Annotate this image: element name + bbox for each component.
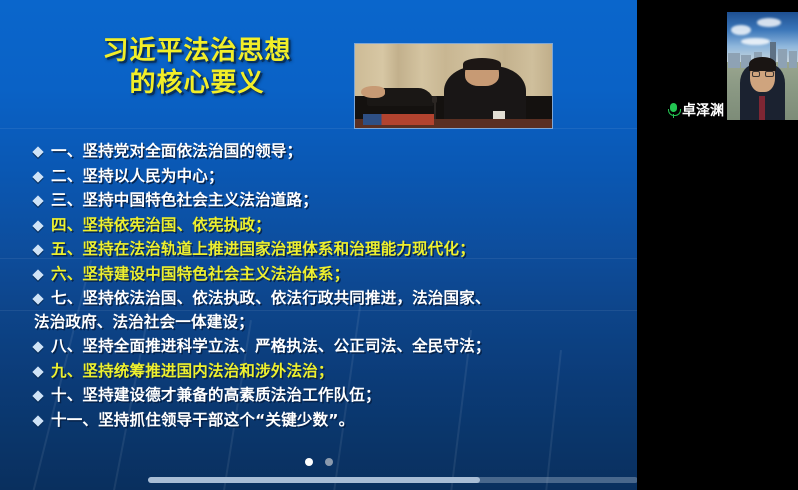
pagination-dots[interactable] bbox=[0, 458, 637, 466]
diamond-bullet-icon bbox=[32, 269, 43, 280]
list-item-label: 九、坚持统筹推进国内法治和涉外法治； bbox=[51, 360, 334, 384]
webcam-building bbox=[778, 49, 787, 68]
list-item-label: 一、坚持党对全面依法治国的领导； bbox=[51, 140, 302, 164]
presentation-viewer: 习近平法治思想 的核心要义 一、坚持党对全面依法治国的领导； bbox=[0, 0, 798, 490]
slide-title: 习近平法治思想 的核心要义 bbox=[52, 36, 342, 99]
list-item: 六、坚持建设中国特色社会主义法治体系； bbox=[34, 263, 624, 287]
pagination-dot-inactive[interactable] bbox=[325, 458, 333, 466]
list-item-label: 十、坚持建设德才兼备的高素质法治工作队伍； bbox=[51, 384, 381, 408]
photo-person-hair bbox=[463, 58, 500, 70]
list-item: 十、坚持建设德才兼备的高素质法治工作队伍； bbox=[34, 384, 624, 408]
photo-microphone-stem bbox=[434, 100, 436, 118]
progress-scrollbar[interactable] bbox=[148, 477, 637, 483]
list-item-label: 二、坚持以人民为中心； bbox=[51, 165, 224, 189]
list-item: 七、坚持依法治国、依法执政、依法行政共同推进，法治国家、 法治政府、法治社会一体… bbox=[34, 287, 624, 334]
list-item: 九、坚持统筹推进国内法治和涉外法治； bbox=[34, 360, 624, 384]
progress-scrollbar-thumb[interactable] bbox=[148, 477, 480, 483]
list-item: 三、坚持中国特色社会主义法治道路； bbox=[34, 189, 624, 213]
microphone-icon bbox=[668, 103, 679, 118]
pagination-dot-active[interactable] bbox=[305, 458, 313, 466]
webcam-building bbox=[789, 51, 798, 68]
webcam-name-badge: 卓泽渊 bbox=[668, 100, 724, 120]
photo-cup bbox=[493, 111, 505, 119]
webcam-person-hair bbox=[749, 57, 776, 71]
list-item-label: 七、坚持依法治国、依法执政、依法行政共同推进，法治国家、 bbox=[51, 289, 491, 307]
photo-microphone-head bbox=[432, 96, 437, 103]
list-item-label: 六、坚持建设中国特色社会主义法治体系； bbox=[51, 263, 349, 287]
list-item-label: 五、坚持在法治轨道上推进国家治理体系和治理能力现代化； bbox=[51, 238, 475, 262]
diamond-bullet-icon bbox=[32, 220, 43, 231]
diamond-bullet-icon bbox=[32, 146, 43, 157]
slide-canvas: 习近平法治思想 的核心要义 一、坚持党对全面依法治国的领导； bbox=[0, 0, 637, 490]
list-item: 八、坚持全面推进科学立法、严格执法、公正司法、全民守法； bbox=[34, 335, 624, 359]
list-item-label-group: 七、坚持依法治国、依法执政、依法行政共同推进，法治国家、 法治政府、法治社会一体… bbox=[51, 287, 491, 334]
diamond-bullet-icon bbox=[32, 195, 43, 206]
diamond-bullet-icon bbox=[32, 342, 43, 353]
diamond-bullet-icon bbox=[32, 415, 43, 426]
webcam-cloud bbox=[757, 18, 781, 27]
list-item: 五、坚持在法治轨道上推进国家治理体系和治理能力现代化； bbox=[34, 238, 624, 262]
webcam-video-tile[interactable] bbox=[727, 12, 798, 120]
webcam-building bbox=[728, 53, 739, 68]
diamond-bullet-icon bbox=[32, 391, 43, 402]
diamond-bullet-icon bbox=[32, 245, 43, 256]
slide-title-line-2: 的核心要义 bbox=[52, 68, 342, 100]
list-item: 十一、坚持抓住领导干部这个“关键少数”。 bbox=[34, 409, 624, 433]
diamond-bullet-icon bbox=[32, 294, 43, 305]
list-item-label: 四、坚持依宪治国、依宪执政； bbox=[51, 214, 271, 238]
slide-title-line-1: 习近平法治思想 bbox=[102, 36, 291, 66]
list-item-label-continued: 法治政府、法治社会一体建设； bbox=[34, 311, 491, 335]
webcam-necktie bbox=[759, 96, 765, 120]
diamond-bullet-icon bbox=[32, 366, 43, 377]
participant-name: 卓泽渊 bbox=[682, 100, 724, 120]
bullet-list: 一、坚持党对全面依法治国的领导； 二、坚持以人民为中心； 三、坚持中国特色社会主… bbox=[34, 140, 624, 434]
speaker-photo bbox=[354, 43, 553, 129]
list-item-label: 八、坚持全面推进科学立法、严格执法、公正司法、全民守法； bbox=[51, 335, 491, 359]
webcam-glasses-right bbox=[765, 71, 773, 77]
diamond-bullet-icon bbox=[32, 171, 43, 182]
list-item: 四、坚持依宪治国、依宪执政； bbox=[34, 214, 624, 238]
list-item-label: 三、坚持中国特色社会主义法治道路； bbox=[51, 189, 318, 213]
list-item: 一、坚持党对全面依法治国的领导； bbox=[34, 140, 624, 164]
list-item: 二、坚持以人民为中心； bbox=[34, 165, 624, 189]
photo-hand bbox=[361, 86, 385, 98]
photo-name-plate bbox=[363, 114, 434, 125]
webcam-glasses-left bbox=[752, 71, 760, 77]
webcam-cloud bbox=[731, 25, 751, 35]
list-item-label: 十一、坚持抓住领导干部这个“关键少数”。 bbox=[51, 409, 354, 433]
